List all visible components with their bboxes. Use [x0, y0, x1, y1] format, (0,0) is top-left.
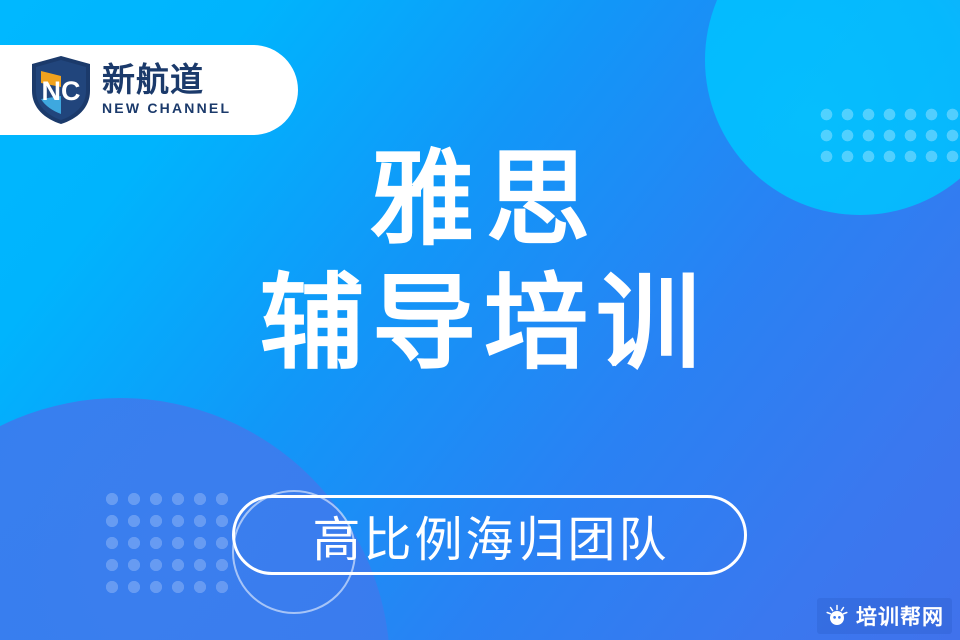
subtitle-text: 高比例海归团队: [309, 500, 669, 570]
brand-logo-plate: NC 新航道 NEW CHANNEL: [0, 45, 298, 135]
brand-name-cn: 新航道: [102, 63, 231, 98]
brand-name-en: NEW CHANNEL: [102, 101, 231, 116]
headline-block: 雅思 辅导培训: [0, 148, 960, 376]
svg-text:NC: NC: [42, 76, 81, 106]
headline-line-2: 辅导培训: [0, 272, 960, 376]
subtitle-pill: 高比例海归团队: [232, 495, 747, 575]
sun-face-icon: [825, 604, 849, 628]
brand-logo-text: 新航道 NEW CHANNEL: [102, 63, 231, 116]
headline-line-1: 雅思: [0, 148, 960, 252]
decor-dot-grid-bottom-left: [96, 483, 236, 595]
shield-icon: NC: [30, 55, 92, 125]
promo-banner: NC 新航道 NEW CHANNEL 雅思 辅导培训 高比例海归团队: [0, 0, 960, 640]
watermark: 培训帮网: [817, 598, 952, 634]
watermark-text: 培训帮网: [856, 601, 944, 631]
